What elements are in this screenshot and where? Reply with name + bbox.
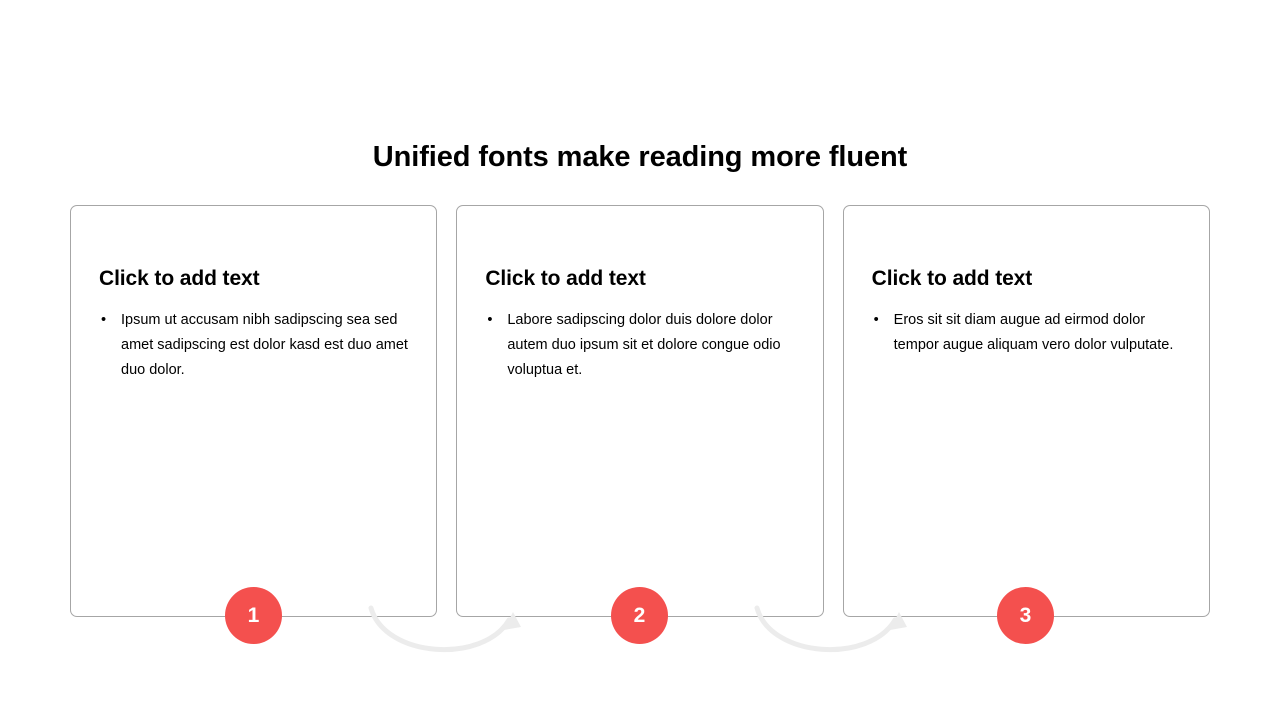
card-1-content: Click to add text Ipsum ut accusam nibh … [99, 266, 412, 383]
card-3-bullet-list: Eros sit sit diam augue ad eirmod dolor … [872, 308, 1185, 358]
step-badge-1[interactable]: 1 [225, 587, 282, 644]
card-3[interactable]: Click to add text Eros sit sit diam augu… [843, 205, 1210, 617]
step-badge-3[interactable]: 3 [997, 587, 1054, 644]
arrow-arc-2-to-3-icon [751, 600, 911, 670]
card-3-content: Click to add text Eros sit sit diam augu… [872, 266, 1185, 358]
card-2-content: Click to add text Labore sadipscing dolo… [485, 266, 798, 383]
step-badge-2[interactable]: 2 [611, 587, 668, 644]
card-2-bullet-list: Labore sadipscing dolor duis dolore dolo… [485, 308, 798, 383]
card-2[interactable]: Click to add text Labore sadipscing dolo… [456, 205, 823, 617]
card-3-heading[interactable]: Click to add text [872, 266, 1185, 292]
card-1-heading[interactable]: Click to add text [99, 266, 412, 292]
card-1[interactable]: Click to add text Ipsum ut accusam nibh … [70, 205, 437, 617]
list-item[interactable]: Ipsum ut accusam nibh sadipscing sea sed… [99, 308, 412, 383]
cards-row: Click to add text Ipsum ut accusam nibh … [70, 205, 1210, 617]
slide-canvas: Unified fonts make reading more fluent C… [0, 0, 1280, 720]
list-item[interactable]: Eros sit sit diam augue ad eirmod dolor … [872, 308, 1185, 358]
card-2-heading[interactable]: Click to add text [485, 266, 798, 292]
list-item[interactable]: Labore sadipscing dolor duis dolore dolo… [485, 308, 798, 383]
arrow-arc-1-to-2-icon [365, 600, 525, 670]
card-1-bullet-list: Ipsum ut accusam nibh sadipscing sea sed… [99, 308, 412, 383]
page-title: Unified fonts make reading more fluent [0, 138, 1280, 176]
